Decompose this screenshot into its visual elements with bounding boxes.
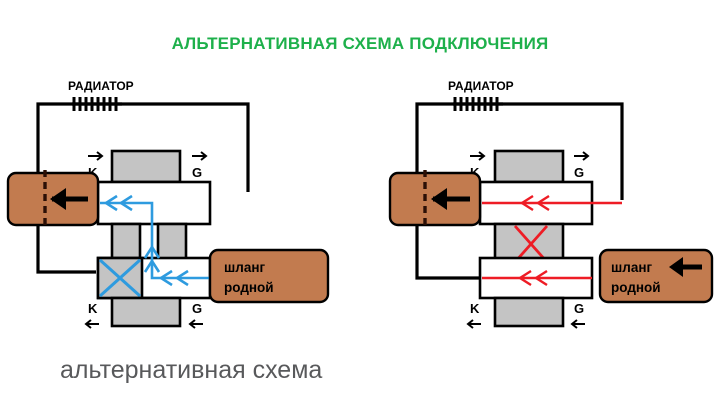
port-bottom-right-g: G [572, 301, 585, 328]
block-bottom-gray-right [495, 298, 563, 326]
blue-x-valve-left [98, 258, 142, 298]
pipe-return-left [38, 260, 96, 272]
block-bottom-gray-left [112, 298, 180, 326]
svg-text:K: K [88, 301, 98, 316]
port-top-right-g: G [574, 152, 588, 180]
left-diagram: РАДИАТОР [0, 70, 370, 330]
block-top-gray-left [112, 151, 180, 182]
block-top-gray-right [495, 151, 563, 182]
diagram-canvas: АЛЬТЕРНАТИВНАЯ СХЕМА ПОДКЛЮЧЕНИЯ РАДИАТО… [0, 0, 720, 420]
hose-label-line2: родной [611, 280, 661, 295]
pipe-return-right [417, 260, 479, 278]
hose-label-line2: родной [224, 280, 274, 295]
port-bottom-left-k: K [86, 301, 99, 328]
svg-text:G: G [574, 165, 584, 180]
right-diagram: РАДИАТОР [375, 70, 720, 330]
hose-label-line1: шланг [224, 260, 265, 275]
radiator-icon-left [72, 97, 122, 111]
svg-text:G: G [192, 301, 202, 316]
pump-inlet-box-right [390, 170, 480, 228]
hose-label-line1: шланг [611, 260, 652, 275]
port-bottom-right-g: G [190, 301, 203, 328]
svg-text:G: G [192, 165, 202, 180]
port-top-right-g: G [192, 152, 206, 180]
svg-text:G: G [574, 301, 584, 316]
radiator-label-left: РАДИАТОР [68, 79, 134, 93]
hose-label-box-left: шланг родной [210, 250, 328, 302]
figure-caption: альтернативная схема [60, 356, 322, 385]
hose-label-box-right: шланг родной [600, 250, 712, 302]
radiator-label-right: РАДИАТОР [448, 79, 514, 93]
page-title: АЛЬТЕРНАТИВНАЯ СХЕМА ПОДКЛЮЧЕНИЯ [0, 34, 720, 54]
pump-inlet-box-left [8, 170, 98, 228]
radiator-icon-right [453, 97, 503, 111]
port-bottom-left-k: K [468, 301, 481, 328]
svg-text:K: K [470, 301, 480, 316]
